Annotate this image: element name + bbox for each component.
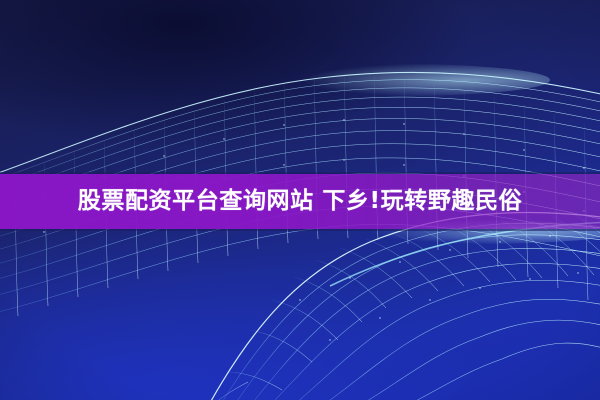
page-title: 股票配资平台查询网站 下乡!玩转野趣民俗 (78, 190, 523, 213)
banner-image-canvas: 股票配资平台查询网站 下乡!玩转野趣民俗 (0, 0, 600, 400)
title-banner: 股票配资平台查询网站 下乡!玩转野趣民俗 (0, 174, 600, 229)
banner-bottom-rule (0, 229, 600, 231)
